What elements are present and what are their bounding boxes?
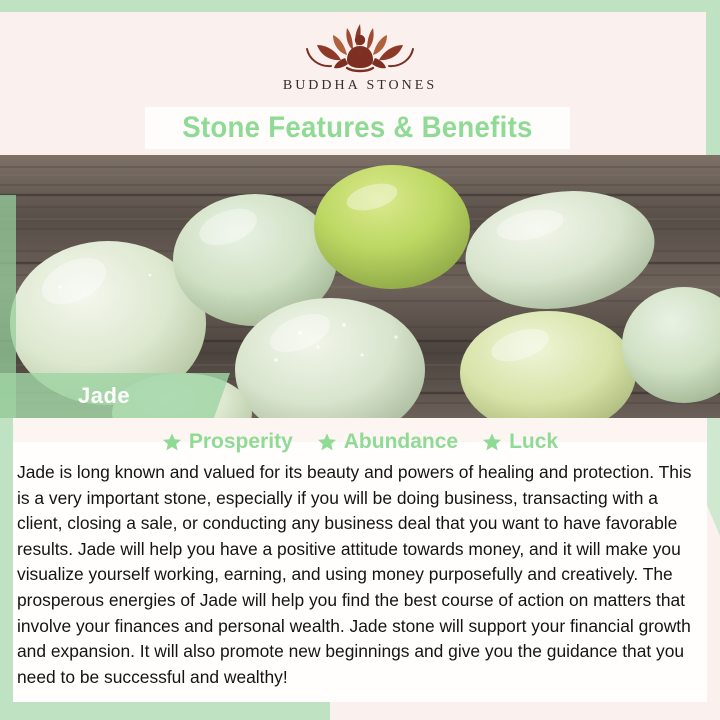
benefits-row: Prosperity Abundance Luck [13, 430, 707, 454]
stone-photo: Jade [0, 155, 720, 418]
frame-left-border [0, 408, 13, 704]
star-icon [317, 432, 337, 452]
benefit-label: Prosperity [189, 430, 293, 454]
lotus-meditation-icon [295, 18, 425, 76]
frame-bottom-border [0, 700, 330, 720]
frame-right-border-lower [706, 418, 720, 536]
headline-banner: Stone Features & Benefits [145, 107, 570, 149]
benefit-item: Luck [482, 430, 558, 454]
frame-top-border [0, 0, 720, 12]
benefit-item: Prosperity [162, 430, 293, 454]
product-info-card: BUDDHA STONES Stone Features & Benefits [0, 0, 720, 720]
description-text: Jade is long known and valued for its be… [17, 460, 703, 690]
benefit-label: Abundance [344, 430, 458, 454]
benefit-label: Luck [509, 430, 558, 454]
page-title: Stone Features & Benefits [182, 111, 532, 145]
benefit-item: Abundance [317, 430, 458, 454]
brand-logo: BUDDHA STONES [0, 18, 720, 94]
star-icon [482, 432, 502, 452]
stone-name-banner: Jade [0, 373, 230, 418]
stone-name-label: Jade [78, 383, 130, 409]
star-icon [162, 432, 182, 452]
brand-name: BUDDHA STONES [0, 78, 720, 94]
